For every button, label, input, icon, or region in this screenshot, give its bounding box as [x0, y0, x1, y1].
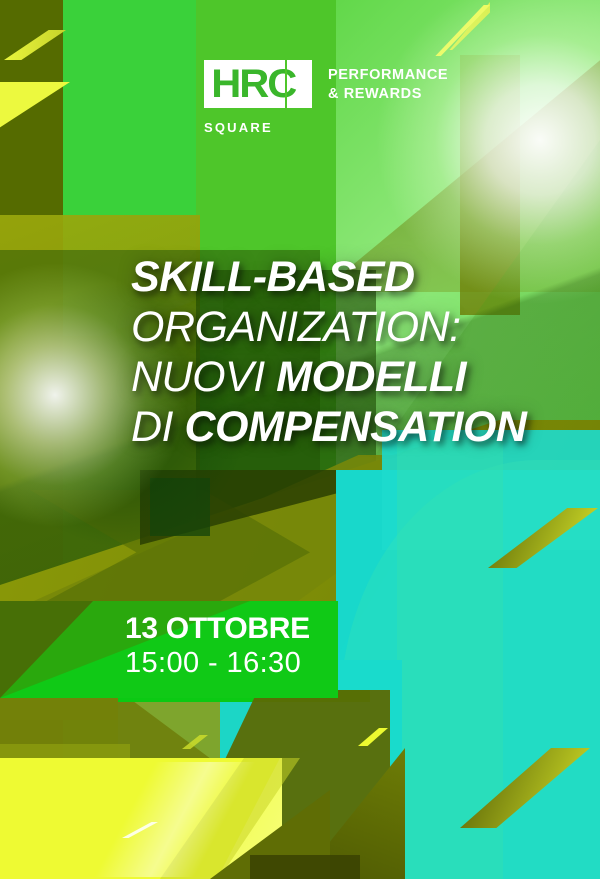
logo-tagline-line-1: PERFORMANCE: [328, 67, 448, 83]
title-line-1-text: SKILL-BASED: [131, 253, 415, 301]
event-date: 13 OTTOBRE: [125, 612, 310, 646]
event-datetime: 13 OTTOBRE 15:00 - 16:30: [125, 612, 310, 680]
logo-hrc-text: HRC: [204, 64, 295, 104]
title-line-4-bold: COMPENSATION: [184, 403, 526, 451]
event-time: 15:00 - 16:30: [125, 646, 310, 680]
event-poster: HRC PERFORMANCE & REWARDS SQUARE SKILL-B…: [0, 0, 600, 879]
title-line-3-bold: MODELLI: [276, 353, 466, 401]
title-line-3-light: NUOVI: [131, 353, 276, 401]
bg-dark-bottom-corner: [250, 855, 360, 879]
title-line-3: NUOVI MODELLI: [131, 352, 526, 402]
title-line-4-light: DI: [131, 403, 184, 451]
logo-divider: [285, 60, 288, 108]
logo-square-text: SQUARE: [204, 120, 273, 135]
title-line-1: SKILL-BASED: [131, 252, 526, 302]
logo-mark-box: HRC: [204, 60, 312, 108]
brand-logo[interactable]: HRC PERFORMANCE & REWARDS: [204, 60, 448, 108]
title-line-2-text: ORGANIZATION:: [131, 303, 461, 351]
logo-tagline-line-2: & REWARDS: [328, 86, 422, 102]
title-line-2: ORGANIZATION:: [131, 302, 526, 352]
title-line-4: DI COMPENSATION: [131, 402, 526, 452]
logo-tagline: PERFORMANCE & REWARDS: [328, 60, 448, 103]
poster-title: SKILL-BASED ORGANIZATION: NUOVI MODELLI …: [131, 252, 526, 452]
